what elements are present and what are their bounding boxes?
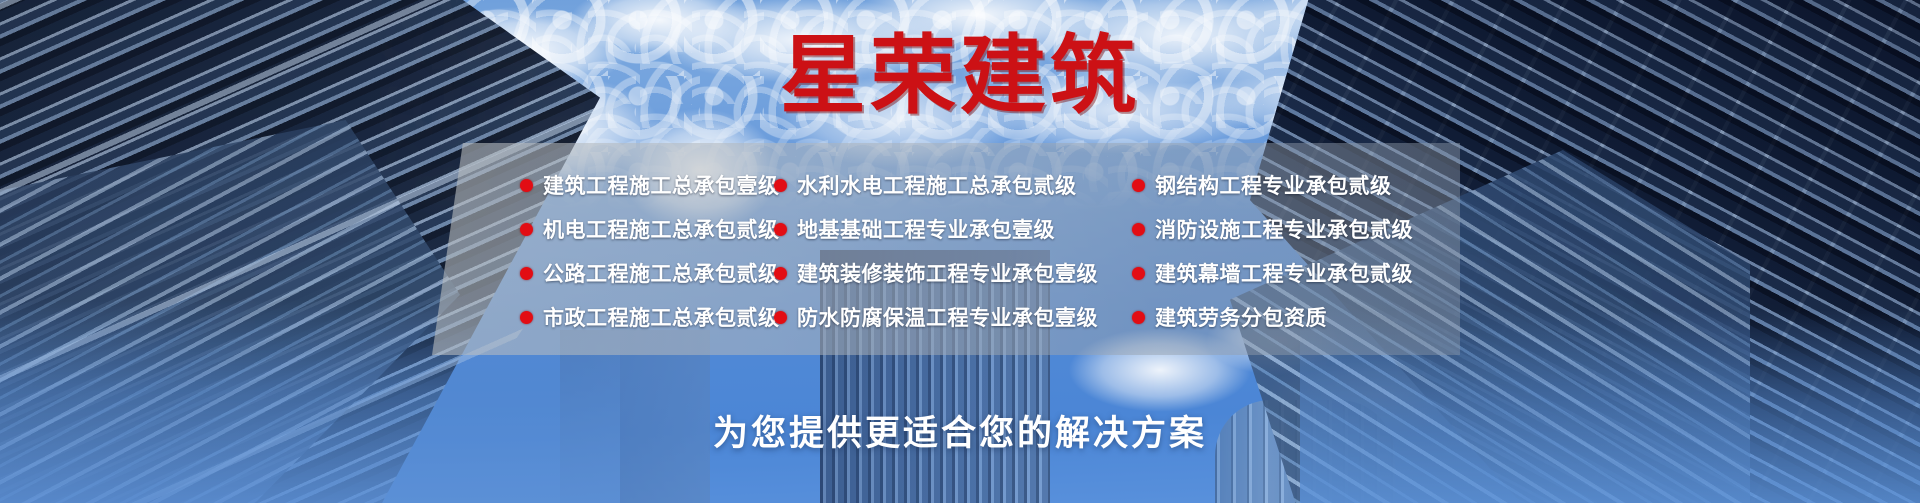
company-title: 星荣建筑 — [0, 33, 1920, 119]
hero-banner: 星荣建筑 建筑工程施工总承包壹级 机电工程施工总承包贰级 公路工程施工总承包贰级 — [0, 0, 1920, 503]
qualification-panel-background — [432, 143, 1460, 355]
banner-tagline: 为您提供更适合您的解决方案 — [0, 405, 1920, 456]
